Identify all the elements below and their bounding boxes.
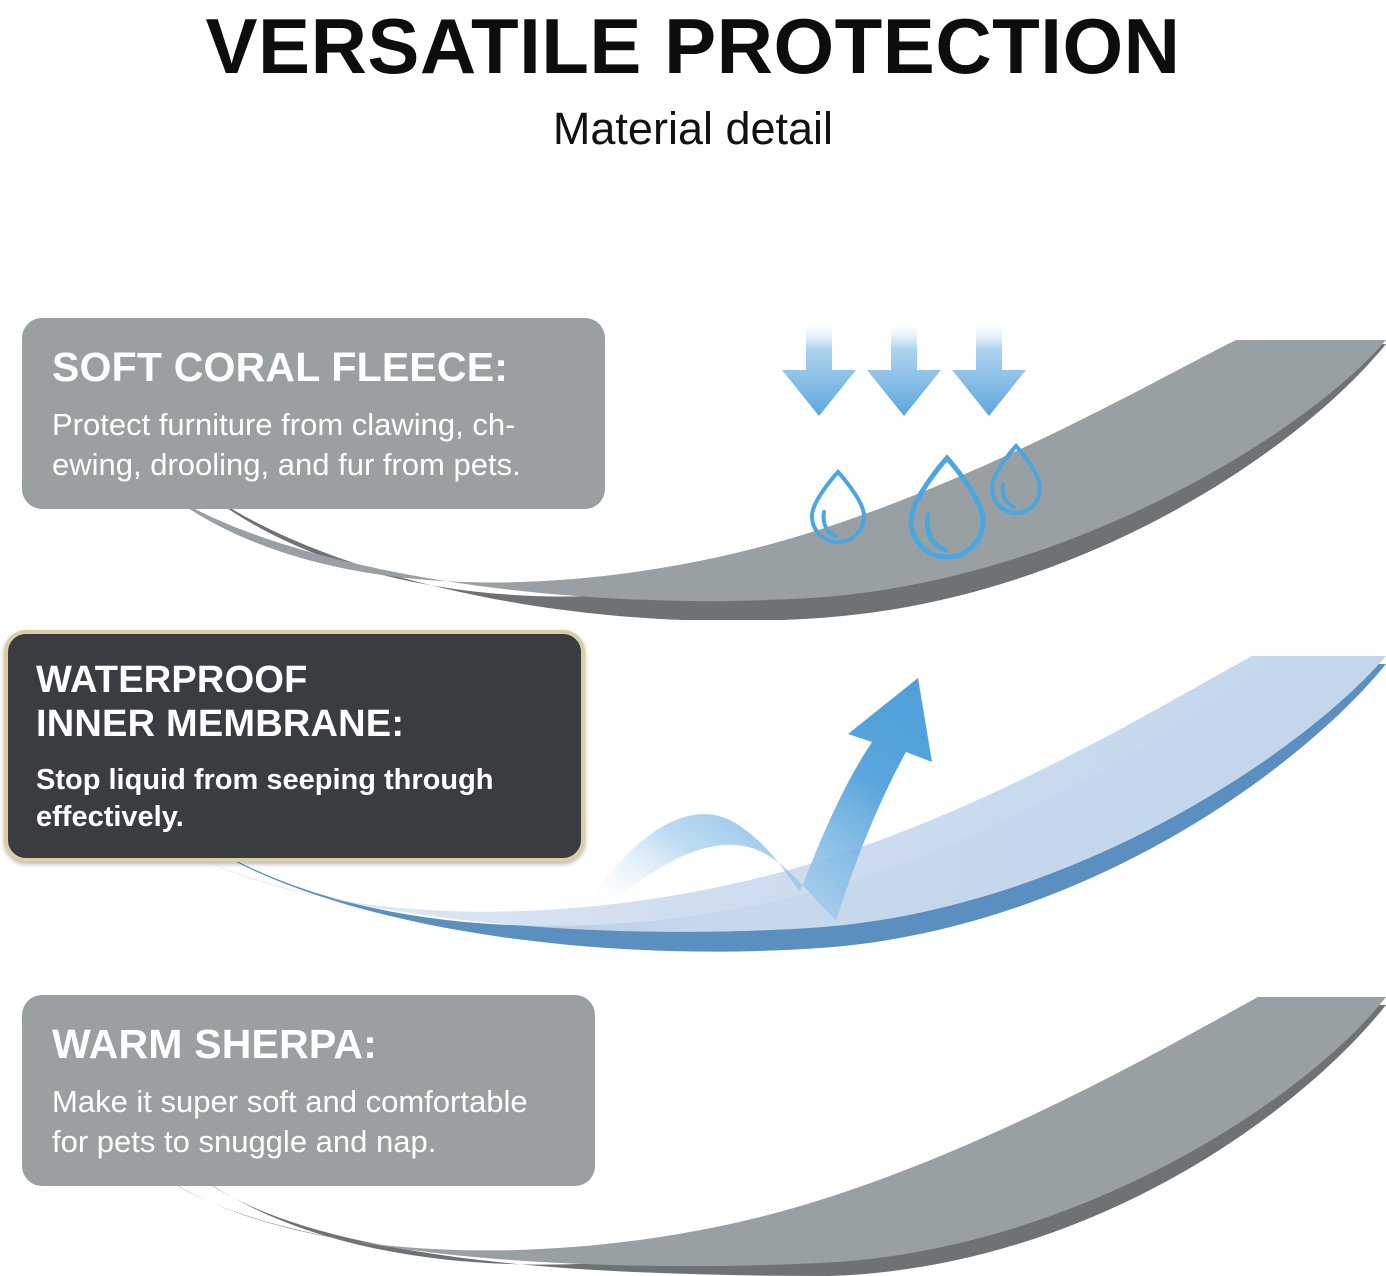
page-subtitle: Material detail: [0, 88, 1386, 154]
card-coral-fleece-heading: SOFT CORAL FLEECE:: [52, 344, 577, 391]
card-warm-sherpa-heading: WARM SHERPA:: [52, 1021, 567, 1068]
card-waterproof-membrane[interactable]: WATERPROOF INNER MEMBRANE: Stop liquid f…: [4, 630, 585, 862]
infographic-canvas: VERSATILE PROTECTION Material detail: [0, 0, 1386, 1276]
down-arrow-icon: [867, 320, 941, 416]
down-arrow-icon-group: [782, 320, 1026, 416]
page-title: VERSATILE PROTECTION: [0, 0, 1386, 88]
card-warm-sherpa-body: Make it super soft and comfortable for p…: [52, 1068, 567, 1162]
layer-coral-fleece: SOFT CORAL FLEECE: Protect furniture fro…: [0, 300, 1386, 620]
header: VERSATILE PROTECTION Material detail: [0, 0, 1386, 154]
card-waterproof-membrane-body: Stop liquid from seeping through effecti…: [36, 746, 555, 836]
layer-warm-sherpa: WARM SHERPA: Make it super soft and comf…: [0, 975, 1386, 1276]
card-coral-fleece[interactable]: SOFT CORAL FLEECE: Protect furniture fro…: [22, 318, 605, 509]
card-warm-sherpa[interactable]: WARM SHERPA: Make it super soft and comf…: [22, 995, 595, 1186]
layer-waterproof-membrane: WATERPROOF INNER MEMBRANE: Stop liquid f…: [0, 630, 1386, 960]
down-arrow-icon: [782, 320, 856, 416]
down-arrow-icon: [952, 320, 1026, 416]
card-coral-fleece-body: Protect furniture from clawing, ch- ewin…: [52, 391, 577, 485]
card-waterproof-membrane-heading: WATERPROOF INNER MEMBRANE:: [36, 658, 555, 746]
